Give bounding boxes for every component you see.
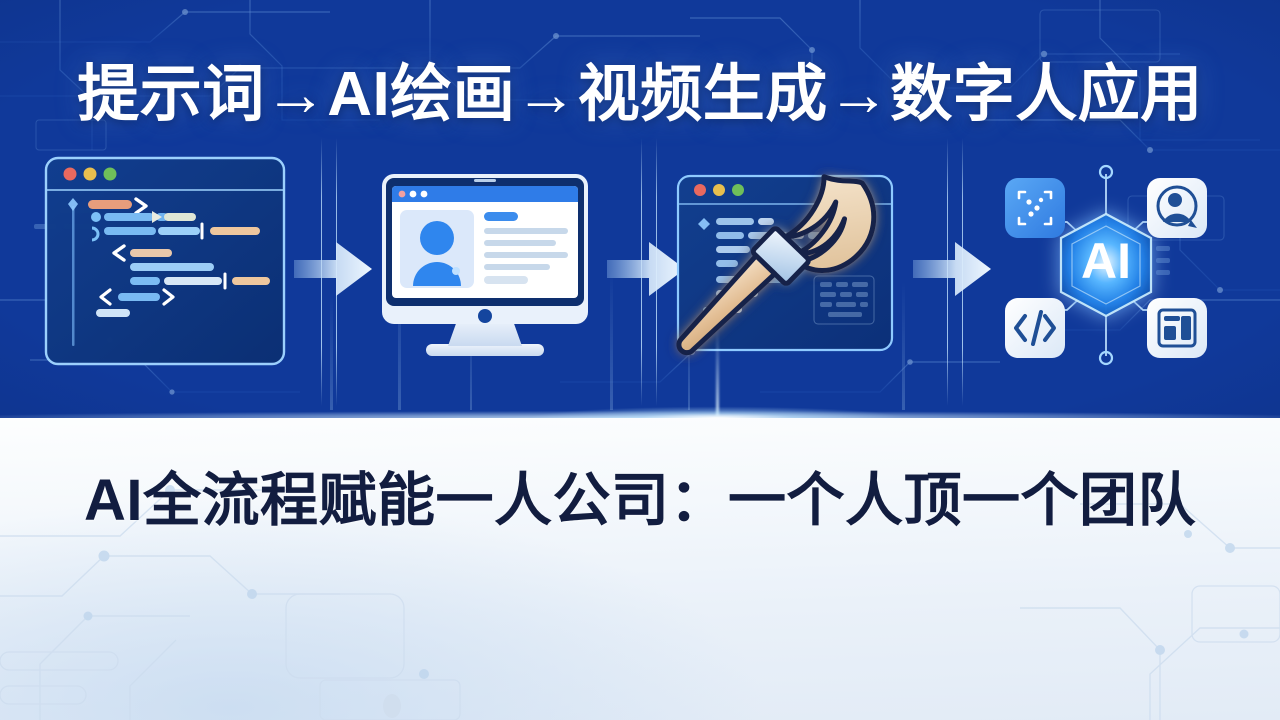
page-title-bottom: AI全流程赋能一人公司：一个人顶一个团队 [0, 465, 1280, 537]
satellite-image-placeholder-icon [1005, 178, 1065, 238]
stage-desktop-monitor [358, 150, 608, 380]
satellite-avatar-chat-icon [1147, 178, 1207, 238]
code-editor-window-icon [40, 150, 290, 380]
ai-hexagon-network-icon: AI [975, 150, 1225, 380]
satellite-code-tag-icon [1005, 298, 1065, 358]
circuit-background-pattern-light [0, 418, 1280, 720]
ai-core-label: AI [1081, 233, 1131, 289]
divider-beam [716, 330, 719, 416]
paintbrush-over-code-window-icon [668, 150, 918, 380]
satellite-layout-panel-icon [1147, 298, 1207, 358]
stage-code-editor [40, 150, 290, 380]
desktop-monitor-profile-icon [358, 150, 608, 380]
bottom-panel: AI [0, 418, 1280, 720]
page-title-top: 提示词→AI绘画→视频生成→数字人应用 [0, 57, 1280, 133]
stage-ai-painting [668, 150, 918, 380]
infographic-poster: AI [0, 0, 1280, 720]
stage-ai-network: AI [975, 150, 1225, 380]
